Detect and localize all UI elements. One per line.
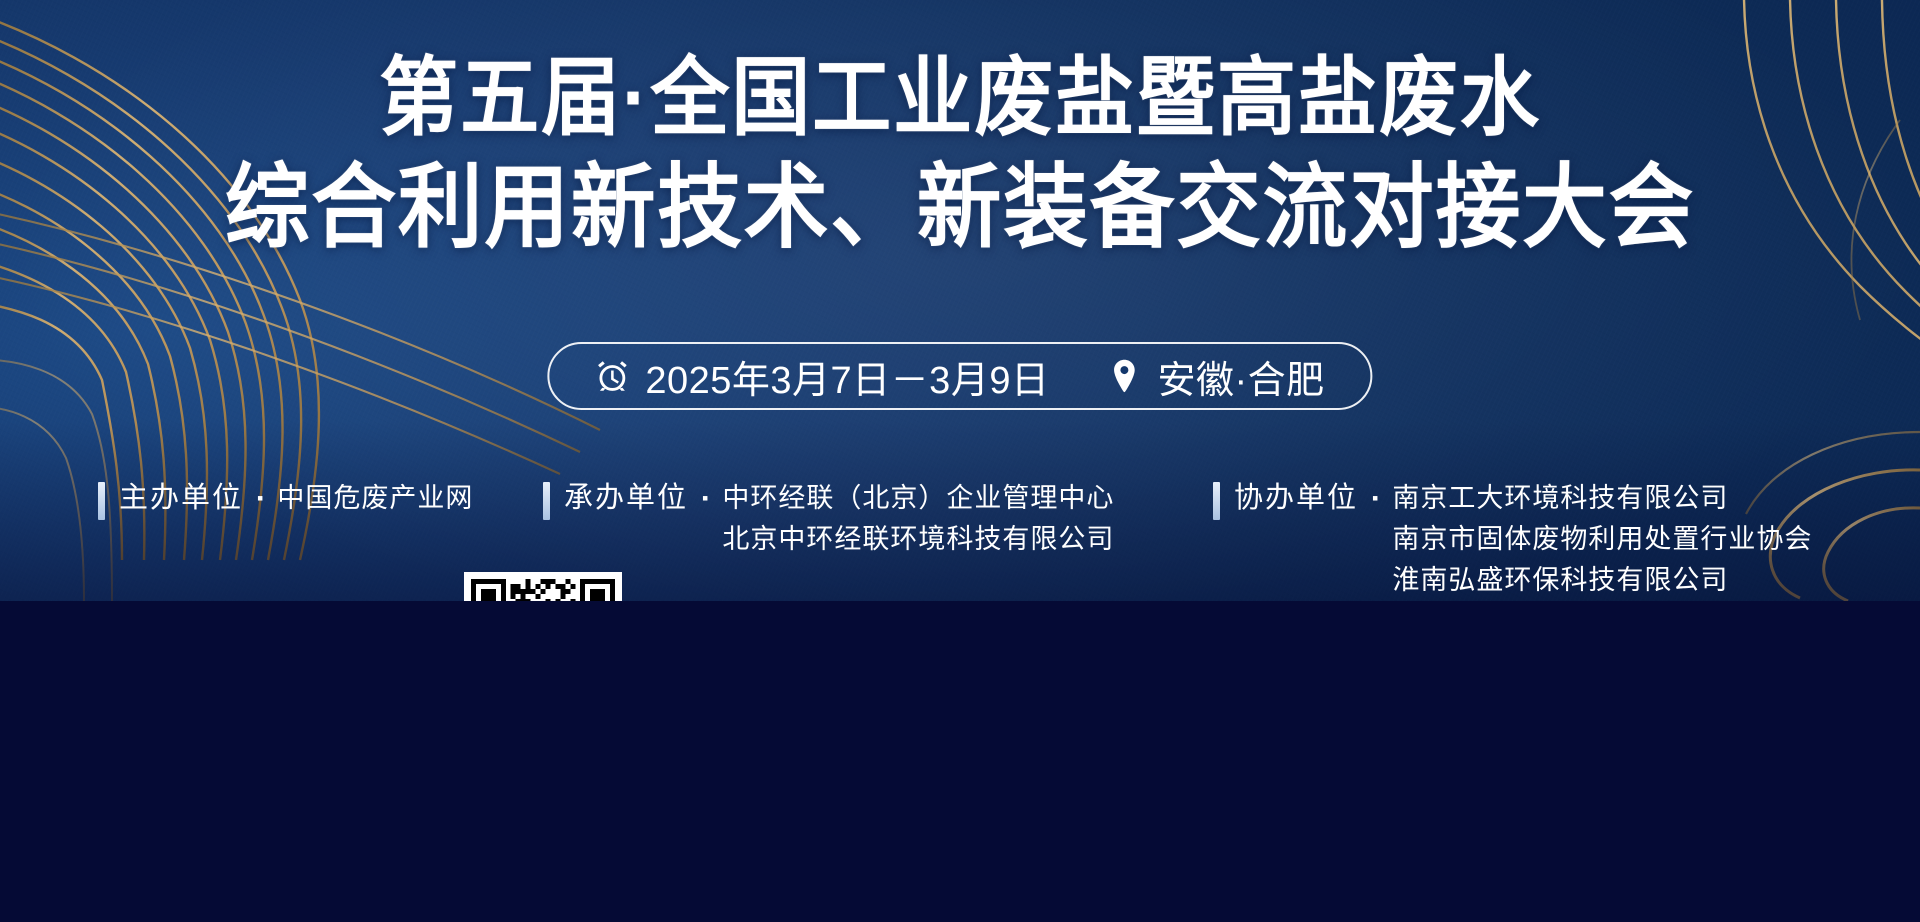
conference-title: 第五届·全国工业废盐暨高盐废水 综合利用新技术、新装备交流对接大会 (0, 52, 1920, 258)
title-line-secondary: 综合利用新技术、新装备交流对接大会 (77, 159, 1843, 258)
location-pin-icon (1107, 359, 1141, 393)
alarm-clock-icon (595, 359, 629, 393)
conference-banner: 第五届·全国工业废盐暨高盐废水 综合利用新技术、新装备交流对接大会 2025年3… (0, 0, 1920, 601)
event-meta-pill: 2025年3月7日－3月9日 安徽·合肥 (547, 342, 1372, 410)
organizer-name: 中国危废产业网 (277, 478, 473, 519)
organizer-label: 承办单位 (564, 478, 688, 518)
bullet-separator-icon: ▪ (1372, 478, 1378, 518)
accent-bar-icon (98, 482, 105, 520)
title-line-primary: 第五届·全国工业废盐暨高盐废水 (77, 52, 1843, 145)
organizer-label: 协办单位 (1234, 478, 1358, 518)
event-date: 2025年3月7日－3月9日 (595, 349, 1049, 404)
event-date-text: 2025年3月7日－3月9日 (645, 349, 1049, 404)
organizer-group-host: 主办单位 ▪ 中国危废产业网 (98, 478, 473, 520)
organizer-name: 北京中环经联环境科技有限公司 (722, 519, 1114, 560)
organizer-name: 南京工大环境科技有限公司 (1392, 478, 1812, 519)
organizer-names: 南京工大环境科技有限公司 南京市固体废物利用处置行业协会 淮南弘盛环保科技有限公… (1392, 478, 1812, 601)
organizer-names: 中环经联（北京）企业管理中心 北京中环经联环境科技有限公司 (722, 478, 1114, 560)
page-root: 第五届·全国工业废盐暨高盐废水 综合利用新技术、新装备交流对接大会 2025年3… (0, 0, 1920, 922)
organizer-name: 南京市固体废物利用处置行业协会 (1392, 519, 1812, 560)
organizer-name: 中环经联（北京）企业管理中心 (722, 478, 1114, 519)
bullet-separator-icon: ▪ (257, 478, 263, 518)
organizer-list: 主办单位 ▪ 中国危废产业网 承办单位 ▪ 中环经联（北京）企业管理中心 北京中… (0, 478, 1920, 598)
organizer-name: 淮南弘盛环保科技有限公司 (1392, 560, 1812, 601)
bullet-separator-icon: ▪ (702, 478, 708, 518)
accent-bar-icon (1213, 482, 1220, 520)
event-location: 安徽·合肥 (1107, 349, 1324, 404)
organizer-group-organizer: 承办单位 ▪ 中环经联（北京）企业管理中心 北京中环经联环境科技有限公司 (543, 478, 1114, 560)
organizer-label: 主办单位 (119, 478, 243, 518)
event-location-text: 安徽·合肥 (1157, 349, 1324, 404)
organizer-group-coorganizer: 协办单位 ▪ 南京工大环境科技有限公司 南京市固体废物利用处置行业协会 淮南弘盛… (1213, 478, 1812, 601)
page-background-panel (0, 601, 1920, 922)
organizer-names: 中国危废产业网 (277, 478, 473, 519)
accent-bar-icon (543, 482, 550, 520)
